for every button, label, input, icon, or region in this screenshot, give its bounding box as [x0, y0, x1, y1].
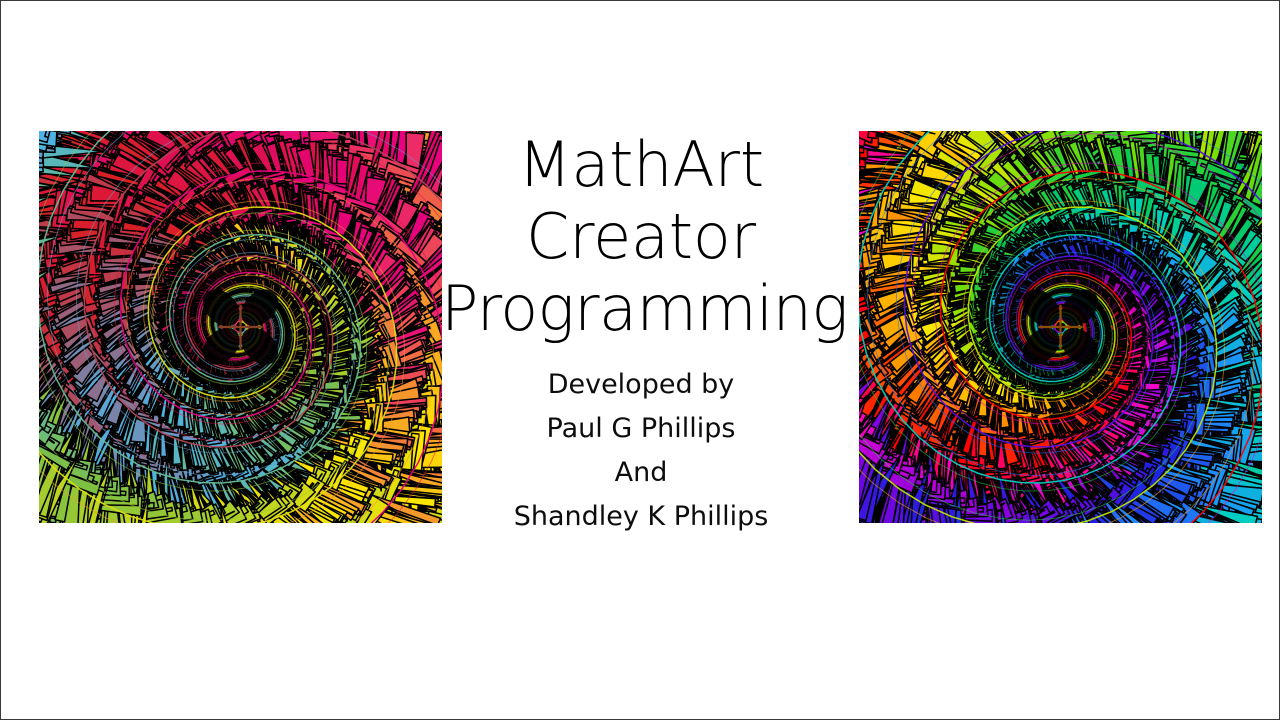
subtitle: Developed by Paul G Phillips And Shandle…	[441, 363, 841, 539]
subtitle-line-2: Paul G Phillips	[441, 407, 841, 451]
title-text-block: MathArt Creator Programming Developed by…	[441, 129, 841, 539]
title-line-3: Programming	[441, 273, 841, 345]
spiral-fractal-left	[39, 131, 442, 523]
title-line-2: Creator	[441, 201, 841, 273]
subtitle-line-4: Shandley K Phillips	[441, 495, 841, 539]
slide-canvas: MathArt Creator Programming Developed by…	[0, 0, 1280, 720]
title-line-1: MathArt	[441, 129, 841, 201]
spiral-fractal-right	[859, 131, 1262, 523]
page-title: MathArt Creator Programming	[441, 129, 841, 345]
subtitle-line-1: Developed by	[441, 363, 841, 407]
subtitle-line-3: And	[441, 451, 841, 495]
